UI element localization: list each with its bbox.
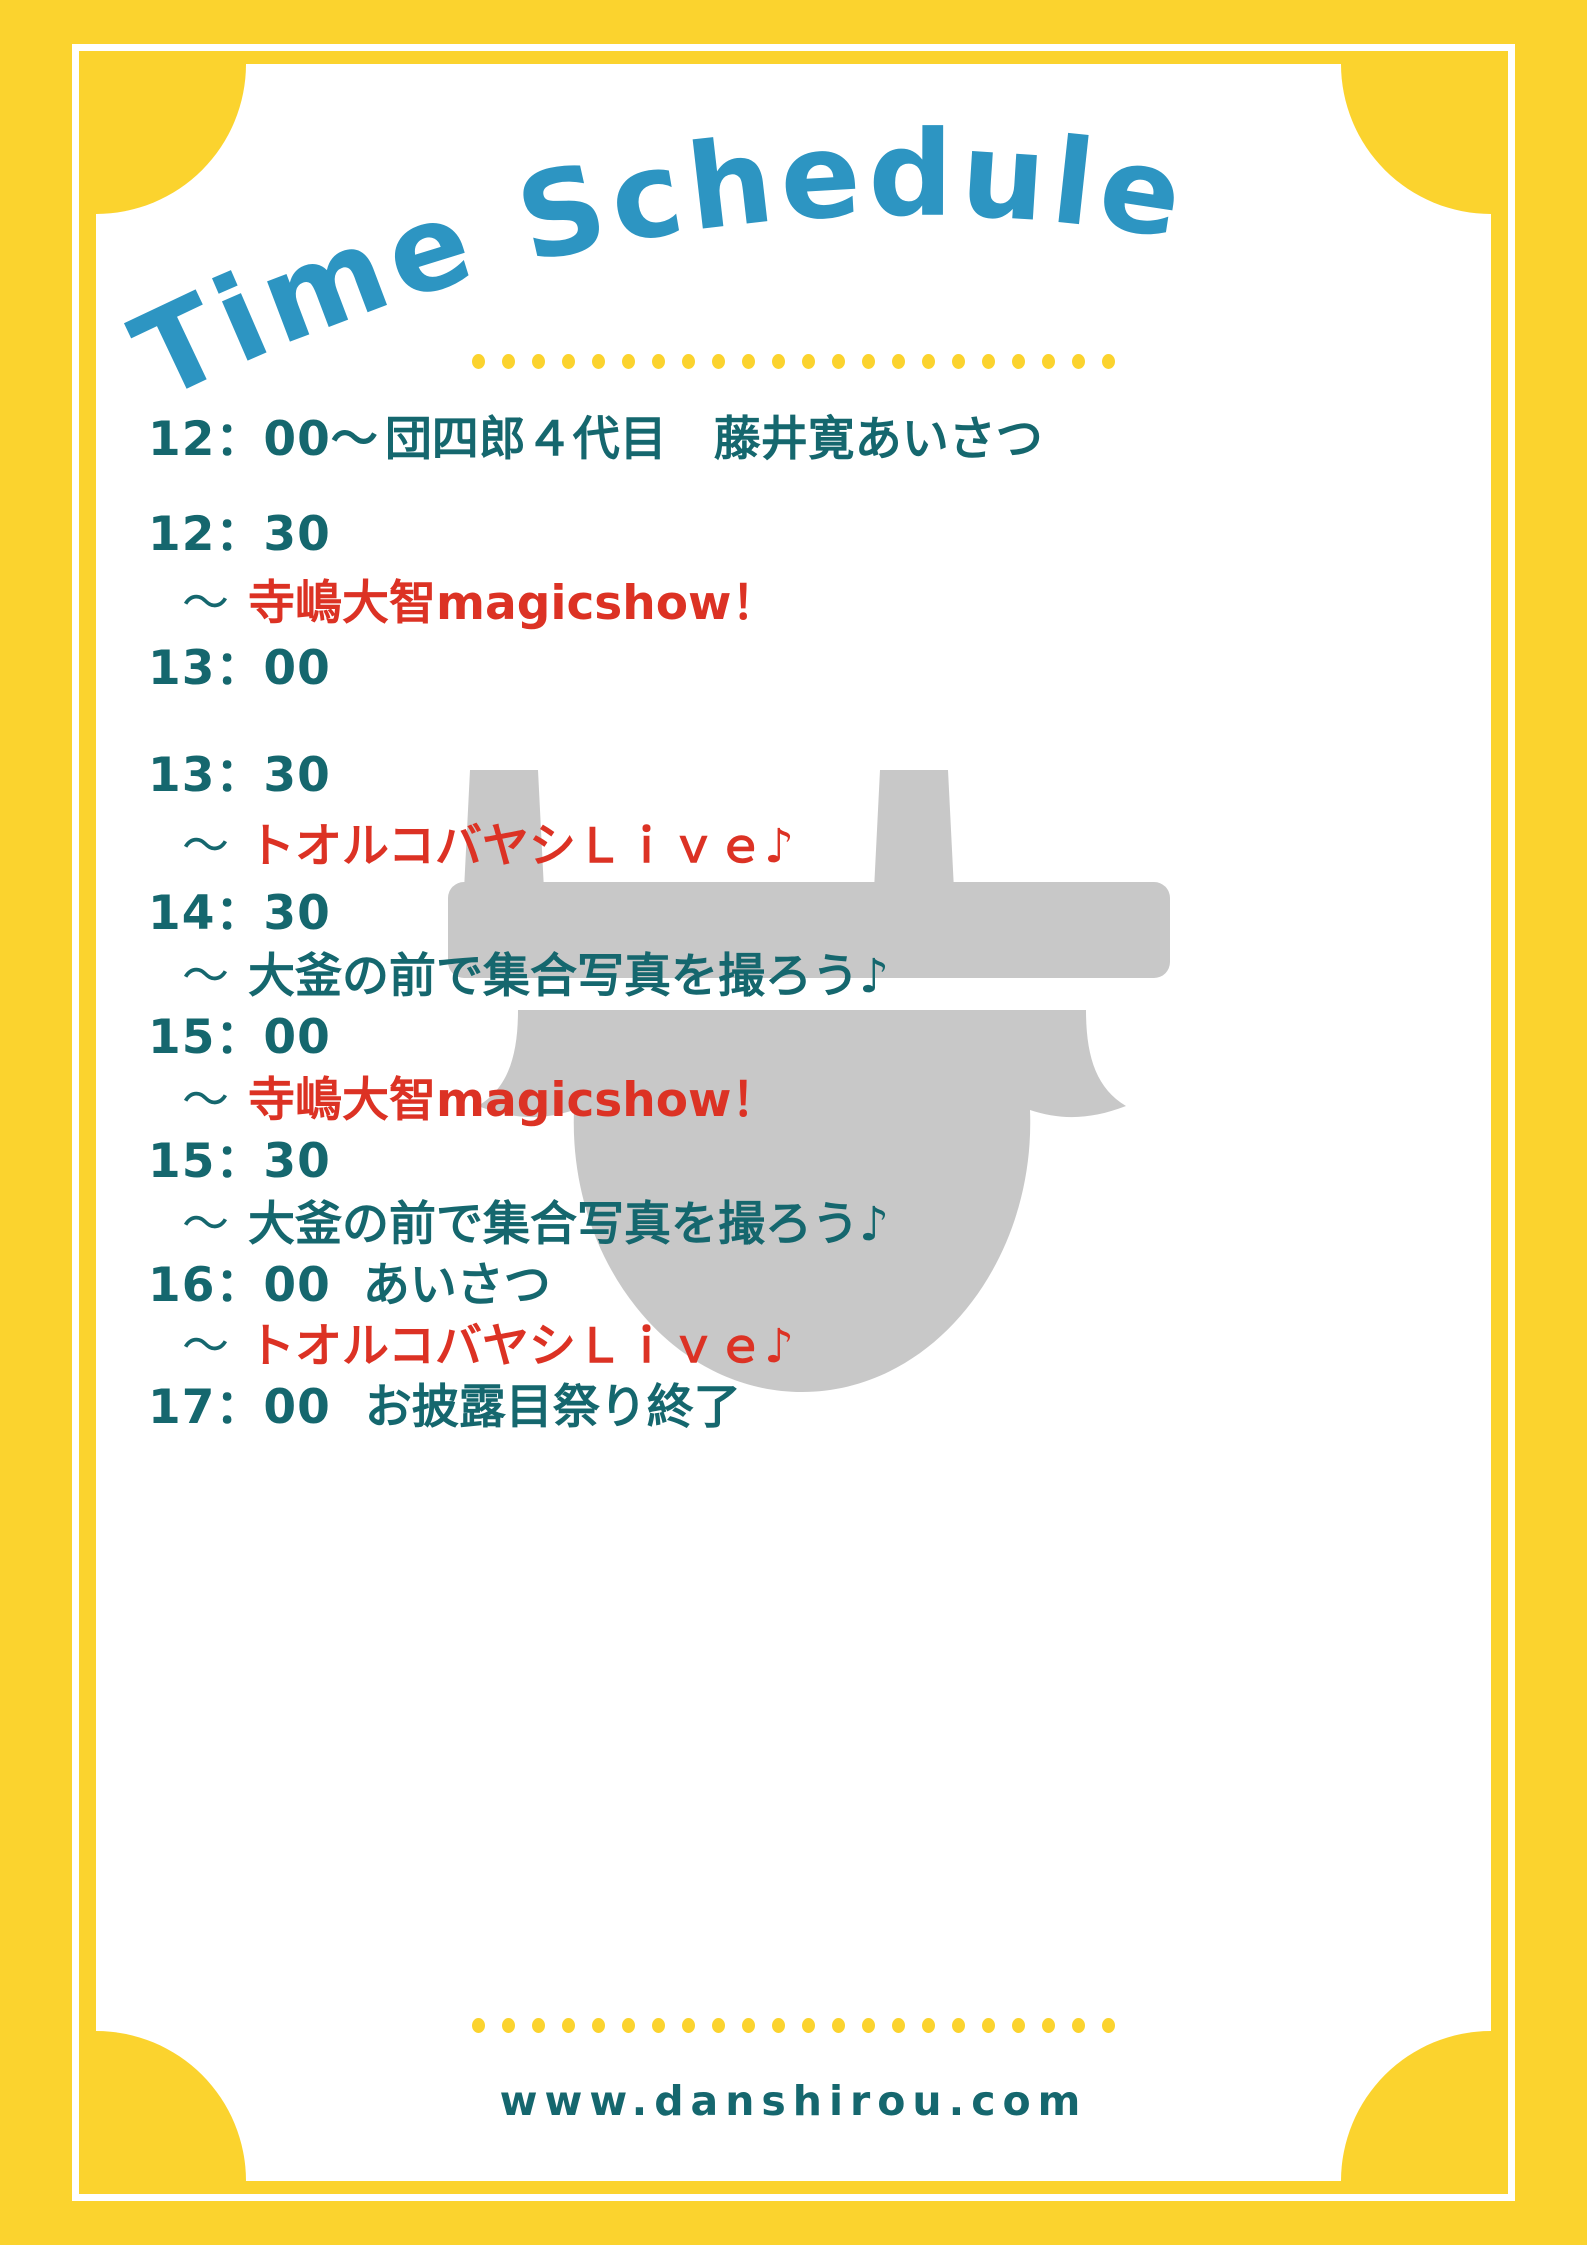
schedule-time: 12：00〜 — [148, 416, 379, 463]
divider-dot — [892, 2018, 905, 2033]
divider-dot — [652, 354, 665, 369]
divider-dot — [922, 2018, 935, 2033]
divider-dot — [1102, 354, 1115, 369]
divider-dot — [532, 354, 545, 369]
divider-dot — [622, 2018, 635, 2033]
divider-dot — [802, 2018, 815, 2033]
schedule-row-2-end: 13：00 — [96, 645, 1491, 692]
divider-dot — [712, 2018, 725, 2033]
page-title: Time Schedule — [113, 105, 1196, 424]
divider-dot — [742, 2018, 755, 2033]
schedule-row-4-event: 〜 大釜の前で集合写真を撮ろう♪ — [96, 953, 1491, 1000]
schedule-time-start: 15：30 — [148, 1138, 331, 1185]
range-tilde: 〜 — [182, 953, 248, 1000]
schedule-row-5-event: 〜 寺嶋大智magicshow！ — [96, 1077, 1491, 1124]
divider-dot — [1102, 2018, 1115, 2033]
divider-dot — [472, 354, 485, 369]
divider-dot — [772, 2018, 785, 2033]
schedule-label: お披露目祭り終了 — [365, 1384, 741, 1431]
divider-dot — [1072, 354, 1085, 369]
poster-title: Time Schedule — [96, 104, 1491, 424]
divider-dot — [1042, 354, 1055, 369]
schedule-label: トオルコバヤシＬｉｖｅ♪ — [248, 823, 794, 870]
divider-dot — [1012, 2018, 1025, 2033]
range-tilde: 〜 — [182, 823, 248, 870]
schedule-row-2-start: 12：30 — [96, 511, 1491, 558]
schedule-time-end: 13：00 — [148, 645, 331, 692]
divider-dot — [1012, 354, 1025, 369]
dotted-divider-bottom — [96, 2018, 1491, 2033]
divider-dot — [652, 2018, 665, 2033]
schedule-time-start: 14：30 — [148, 890, 331, 937]
divider-dot — [592, 354, 605, 369]
divider-dot — [622, 354, 635, 369]
schedule-label: 団四郎４代目 藤井寛あいさつ — [385, 416, 1043, 463]
schedule-list: 12：00〜 団四郎４代目 藤井寛あいさつ 12：30 〜 寺嶋大智magics… — [96, 416, 1491, 1441]
poster-content: Time Schedule 12：00〜 団四郎４代目 藤井寛あいさつ 12：3… — [96, 64, 1491, 2181]
range-tilde: 〜 — [182, 580, 248, 627]
schedule-label: 寺嶋大智magicshow！ — [248, 1077, 778, 1124]
divider-dot — [562, 2018, 575, 2033]
divider-dot — [862, 354, 875, 369]
title-arc-svg: Time Schedule — [96, 104, 1491, 424]
dotted-divider-top — [96, 354, 1491, 369]
schedule-row-4-start: 14：30 — [96, 890, 1491, 937]
divider-dot — [592, 2018, 605, 2033]
schedule-time-start: 12：30 — [148, 511, 331, 558]
divider-dot — [742, 354, 755, 369]
divider-dot — [712, 354, 725, 369]
schedule-row-9: 17：00 お披露目祭り終了 — [96, 1384, 1491, 1431]
schedule-row-3-event: 〜 トオルコバヤシＬｉｖｅ♪ — [96, 823, 1491, 870]
divider-dot — [952, 2018, 965, 2033]
divider-dot — [1042, 2018, 1055, 2033]
schedule-label: 寺嶋大智magicshow！ — [248, 580, 778, 627]
schedule-label: トオルコバヤシＬｉｖｅ♪ — [248, 1323, 794, 1370]
schedule-label: あいさつ — [363, 1262, 551, 1309]
divider-dot — [832, 354, 845, 369]
divider-dot — [892, 354, 905, 369]
divider-dot — [802, 354, 815, 369]
divider-dot — [502, 354, 515, 369]
schedule-time-start: 15：00 — [148, 1014, 331, 1061]
divider-dot — [1072, 2018, 1085, 2033]
schedule-row-3-start: 13：30 — [96, 752, 1491, 799]
schedule-label: 大釜の前で集合写真を撮ろう♪ — [248, 1201, 889, 1248]
range-tilde: 〜 — [182, 1077, 248, 1124]
divider-dot — [952, 354, 965, 369]
range-tilde: 〜 — [182, 1201, 248, 1248]
website-url[interactable]: www.danshirou.com — [96, 2077, 1491, 2125]
schedule-label: 大釜の前で集合写真を撮ろう♪ — [248, 953, 889, 1000]
divider-dot — [682, 354, 695, 369]
divider-dot — [832, 2018, 845, 2033]
schedule-row-7: 16：00 あいさつ — [96, 1262, 1491, 1309]
schedule-row-5-start: 15：00 — [96, 1014, 1491, 1061]
divider-dot — [562, 354, 575, 369]
schedule-row-6-event: 〜 大釜の前で集合写真を撮ろう♪ — [96, 1201, 1491, 1248]
schedule-row-1: 12：00〜 団四郎４代目 藤井寛あいさつ — [96, 416, 1491, 463]
schedule-row-6-start: 15：30 — [96, 1138, 1491, 1185]
divider-dot — [502, 2018, 515, 2033]
divider-dot — [472, 2018, 485, 2033]
range-tilde: 〜 — [182, 1323, 248, 1370]
schedule-time: 17：00 — [148, 1384, 331, 1431]
divider-dot — [682, 2018, 695, 2033]
divider-dot — [862, 2018, 875, 2033]
divider-dot — [982, 354, 995, 369]
schedule-row-8-event: 〜 トオルコバヤシＬｉｖｅ♪ — [96, 1323, 1491, 1370]
divider-dot — [772, 354, 785, 369]
divider-dot — [532, 2018, 545, 2033]
schedule-time-start: 13：30 — [148, 752, 331, 799]
schedule-row-2-event: 〜 寺嶋大智magicshow！ — [96, 580, 1491, 627]
divider-dot — [922, 354, 935, 369]
divider-dot — [982, 2018, 995, 2033]
schedule-time: 16：00 — [148, 1262, 331, 1309]
